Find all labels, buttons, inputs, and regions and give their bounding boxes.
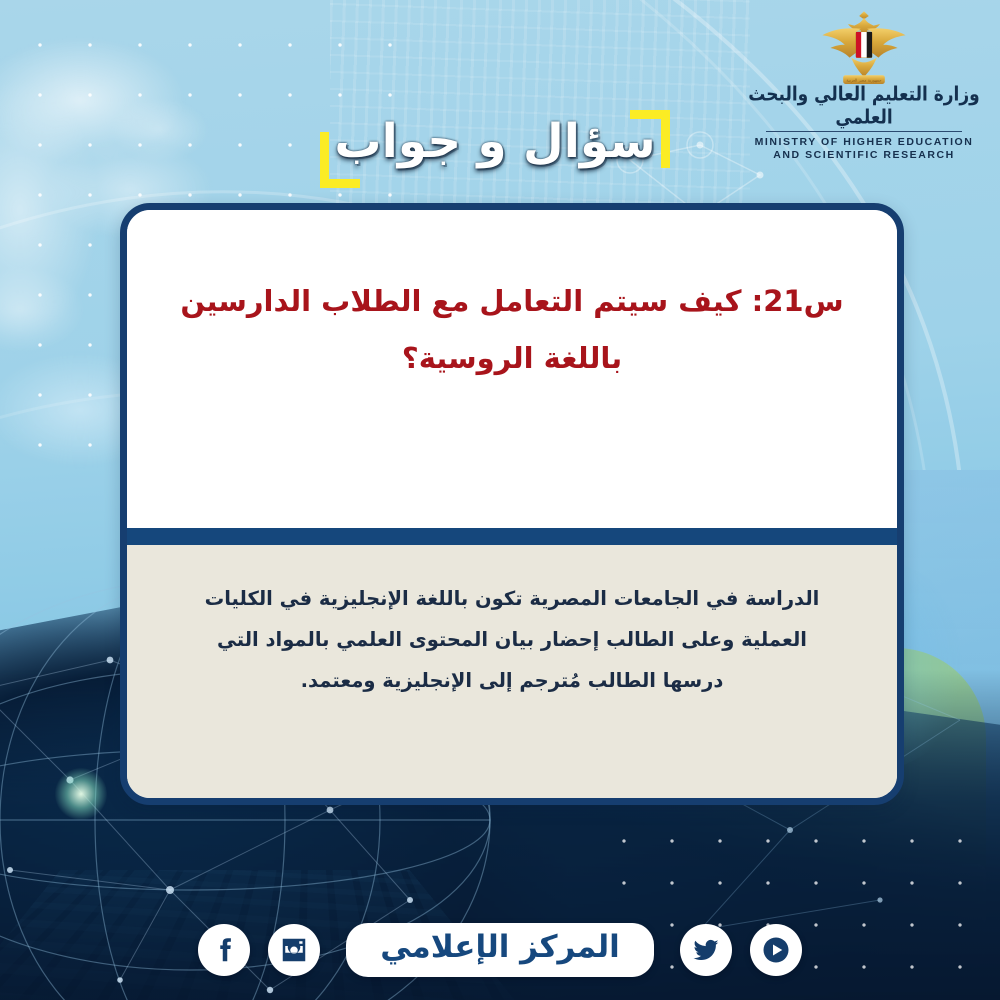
ministry-name-english-line2: AND SCIENTIFIC RESEARCH bbox=[744, 149, 984, 162]
qa-card: س21: كيف سيتم التعامل مع الطلاب الدارسين… bbox=[120, 203, 904, 805]
ministry-name-english-line1: MINISTRY OF HIGHER EDUCATION bbox=[744, 136, 984, 149]
egypt-eagle-emblem-icon: جمهورية مصر العربية bbox=[744, 8, 984, 88]
facebook-icon[interactable] bbox=[198, 924, 250, 976]
poster-root: جمهورية مصر العربية وزارة التعليم العالي… bbox=[0, 0, 1000, 1000]
youtube-icon[interactable] bbox=[750, 924, 802, 976]
question-pane: س21: كيف سيتم التعامل مع الطلاب الدارسين… bbox=[127, 210, 897, 528]
logo-divider bbox=[766, 131, 962, 132]
svg-text:جمهورية مصر العربية: جمهورية مصر العربية bbox=[846, 78, 882, 83]
twitter-icon[interactable] bbox=[680, 924, 732, 976]
ministry-logo: جمهورية مصر العربية وزارة التعليم العالي… bbox=[744, 8, 984, 162]
media-center-label: المركز الإعلامي bbox=[380, 930, 620, 966]
media-center-pill: المركز الإعلامي bbox=[346, 923, 654, 977]
ministry-name-arabic: وزارة التعليم العالي والبحث العلمي bbox=[744, 83, 984, 129]
instagram-icon[interactable] bbox=[268, 924, 320, 976]
banner-title: سؤال و جواب bbox=[320, 114, 670, 169]
background-glow-node bbox=[55, 768, 107, 820]
question-text: س21: كيف سيتم التعامل مع الطلاب الدارسين… bbox=[173, 273, 851, 386]
answer-text: الدراسة في الجامعات المصرية تكون باللغة … bbox=[191, 579, 833, 702]
footer-social-bar: المركز الإعلامي bbox=[0, 908, 1000, 992]
banner-title-group: سؤال و جواب bbox=[320, 108, 670, 190]
answer-pane: الدراسة في الجامعات المصرية تكون باللغة … bbox=[127, 545, 897, 805]
card-divider bbox=[127, 528, 897, 545]
